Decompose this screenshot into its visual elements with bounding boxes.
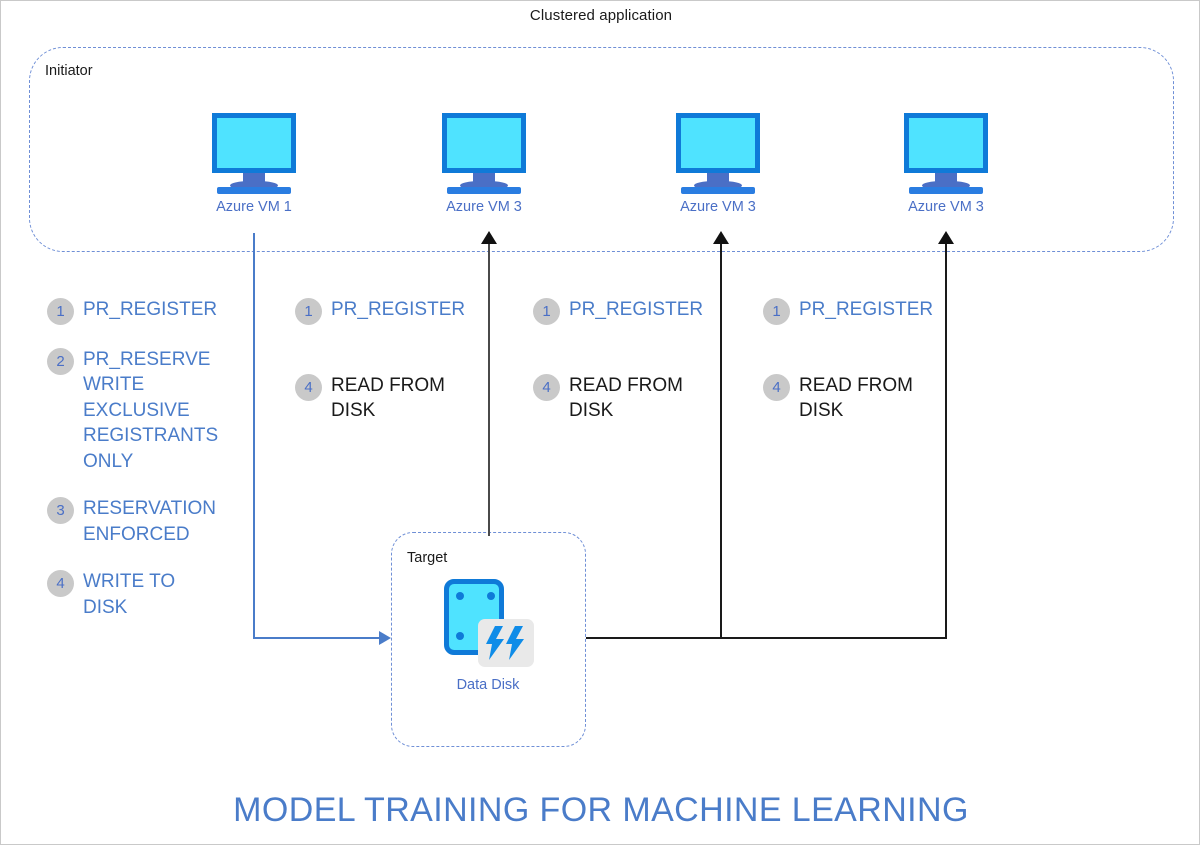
step-item: 4 READ FROM DISK	[763, 373, 963, 424]
step-item: 2 PR_RESERVE WRITE EXCLUSIVE REGISTRANTS…	[47, 347, 262, 474]
lightning-badge-icon	[478, 619, 534, 667]
step-column-vm1: 1 PR_REGISTER 2 PR_RESERVE WRITE EXCLUSI…	[47, 297, 262, 642]
step-number-badge: 1	[763, 298, 790, 325]
step-item: 1 PR_REGISTER	[47, 297, 262, 325]
azure-vm-label-1: Azure VM 1	[194, 199, 314, 215]
step-number-badge: 2	[47, 348, 74, 375]
step-item: 1 PR_REGISTER	[295, 297, 495, 325]
step-column-vm2: 1 PR_REGISTER 4 READ FROM DISK	[295, 297, 495, 446]
step-label: PR_REGISTER	[569, 297, 703, 322]
monitor-icon	[672, 113, 764, 195]
step-label: PR_RESERVE WRITE EXCLUSIVE REGISTRANTS O…	[83, 347, 218, 474]
step-item: 1 PR_REGISTER	[763, 297, 963, 325]
step-label: READ FROM DISK	[569, 373, 683, 424]
step-label: RESERVATION ENFORCED	[83, 496, 216, 547]
vm1-to-disk-horizontal-line	[253, 637, 379, 639]
data-disk-node[interactable]: Data Disk	[440, 579, 536, 693]
vm1-to-disk-arrowhead	[379, 631, 391, 645]
disk-to-vm4-arrowhead	[938, 231, 954, 244]
step-number-badge: 1	[47, 298, 74, 325]
step-item: 4 READ FROM DISK	[295, 373, 495, 424]
data-disk-icon	[440, 579, 536, 671]
clustered-application-label: Clustered application	[1, 7, 1200, 24]
step-item: 3 RESERVATION ENFORCED	[47, 496, 262, 547]
step-number-badge: 4	[295, 374, 322, 401]
monitor-icon	[208, 113, 300, 195]
step-number-badge: 4	[533, 374, 560, 401]
target-label: Target	[407, 550, 447, 566]
step-column-vm3: 1 PR_REGISTER 4 READ FROM DISK	[533, 297, 733, 446]
step-number-badge: 4	[47, 570, 74, 597]
step-label: PR_REGISTER	[331, 297, 465, 322]
azure-vm-label-4: Azure VM 3	[886, 199, 1006, 215]
step-label: PR_REGISTER	[799, 297, 933, 322]
data-disk-label: Data Disk	[440, 677, 536, 693]
monitor-icon	[900, 113, 992, 195]
disk-to-vm2-arrowhead	[481, 231, 497, 244]
azure-vm-node-1[interactable]: Azure VM 1	[194, 113, 314, 215]
azure-vm-node-4[interactable]: Azure VM 3	[886, 113, 1006, 215]
step-number-badge: 3	[47, 497, 74, 524]
disk-bus-horizontal-line	[586, 637, 947, 639]
step-number-badge: 4	[763, 374, 790, 401]
step-label: READ FROM DISK	[331, 373, 445, 424]
azure-vm-node-2[interactable]: Azure VM 3	[424, 113, 544, 215]
monitor-icon	[438, 113, 530, 195]
step-label: READ FROM DISK	[799, 373, 913, 424]
step-column-vm4: 1 PR_REGISTER 4 READ FROM DISK	[763, 297, 963, 446]
diagram-canvas: Clustered application Initiator Azure VM…	[0, 0, 1200, 845]
step-label: PR_REGISTER	[83, 297, 217, 322]
step-number-badge: 1	[295, 298, 322, 325]
azure-vm-node-3[interactable]: Azure VM 3	[658, 113, 778, 215]
step-label: WRITE TO DISK	[83, 569, 175, 620]
disk-to-vm3-arrowhead	[713, 231, 729, 244]
step-item: 1 PR_REGISTER	[533, 297, 733, 325]
azure-vm-label-3: Azure VM 3	[658, 199, 778, 215]
azure-vm-label-2: Azure VM 3	[424, 199, 544, 215]
step-item: 4 WRITE TO DISK	[47, 569, 262, 620]
step-number-badge: 1	[533, 298, 560, 325]
step-item: 4 READ FROM DISK	[533, 373, 733, 424]
initiator-label: Initiator	[45, 63, 93, 79]
diagram-title: MODEL TRAINING FOR MACHINE LEARNING	[1, 791, 1200, 830]
